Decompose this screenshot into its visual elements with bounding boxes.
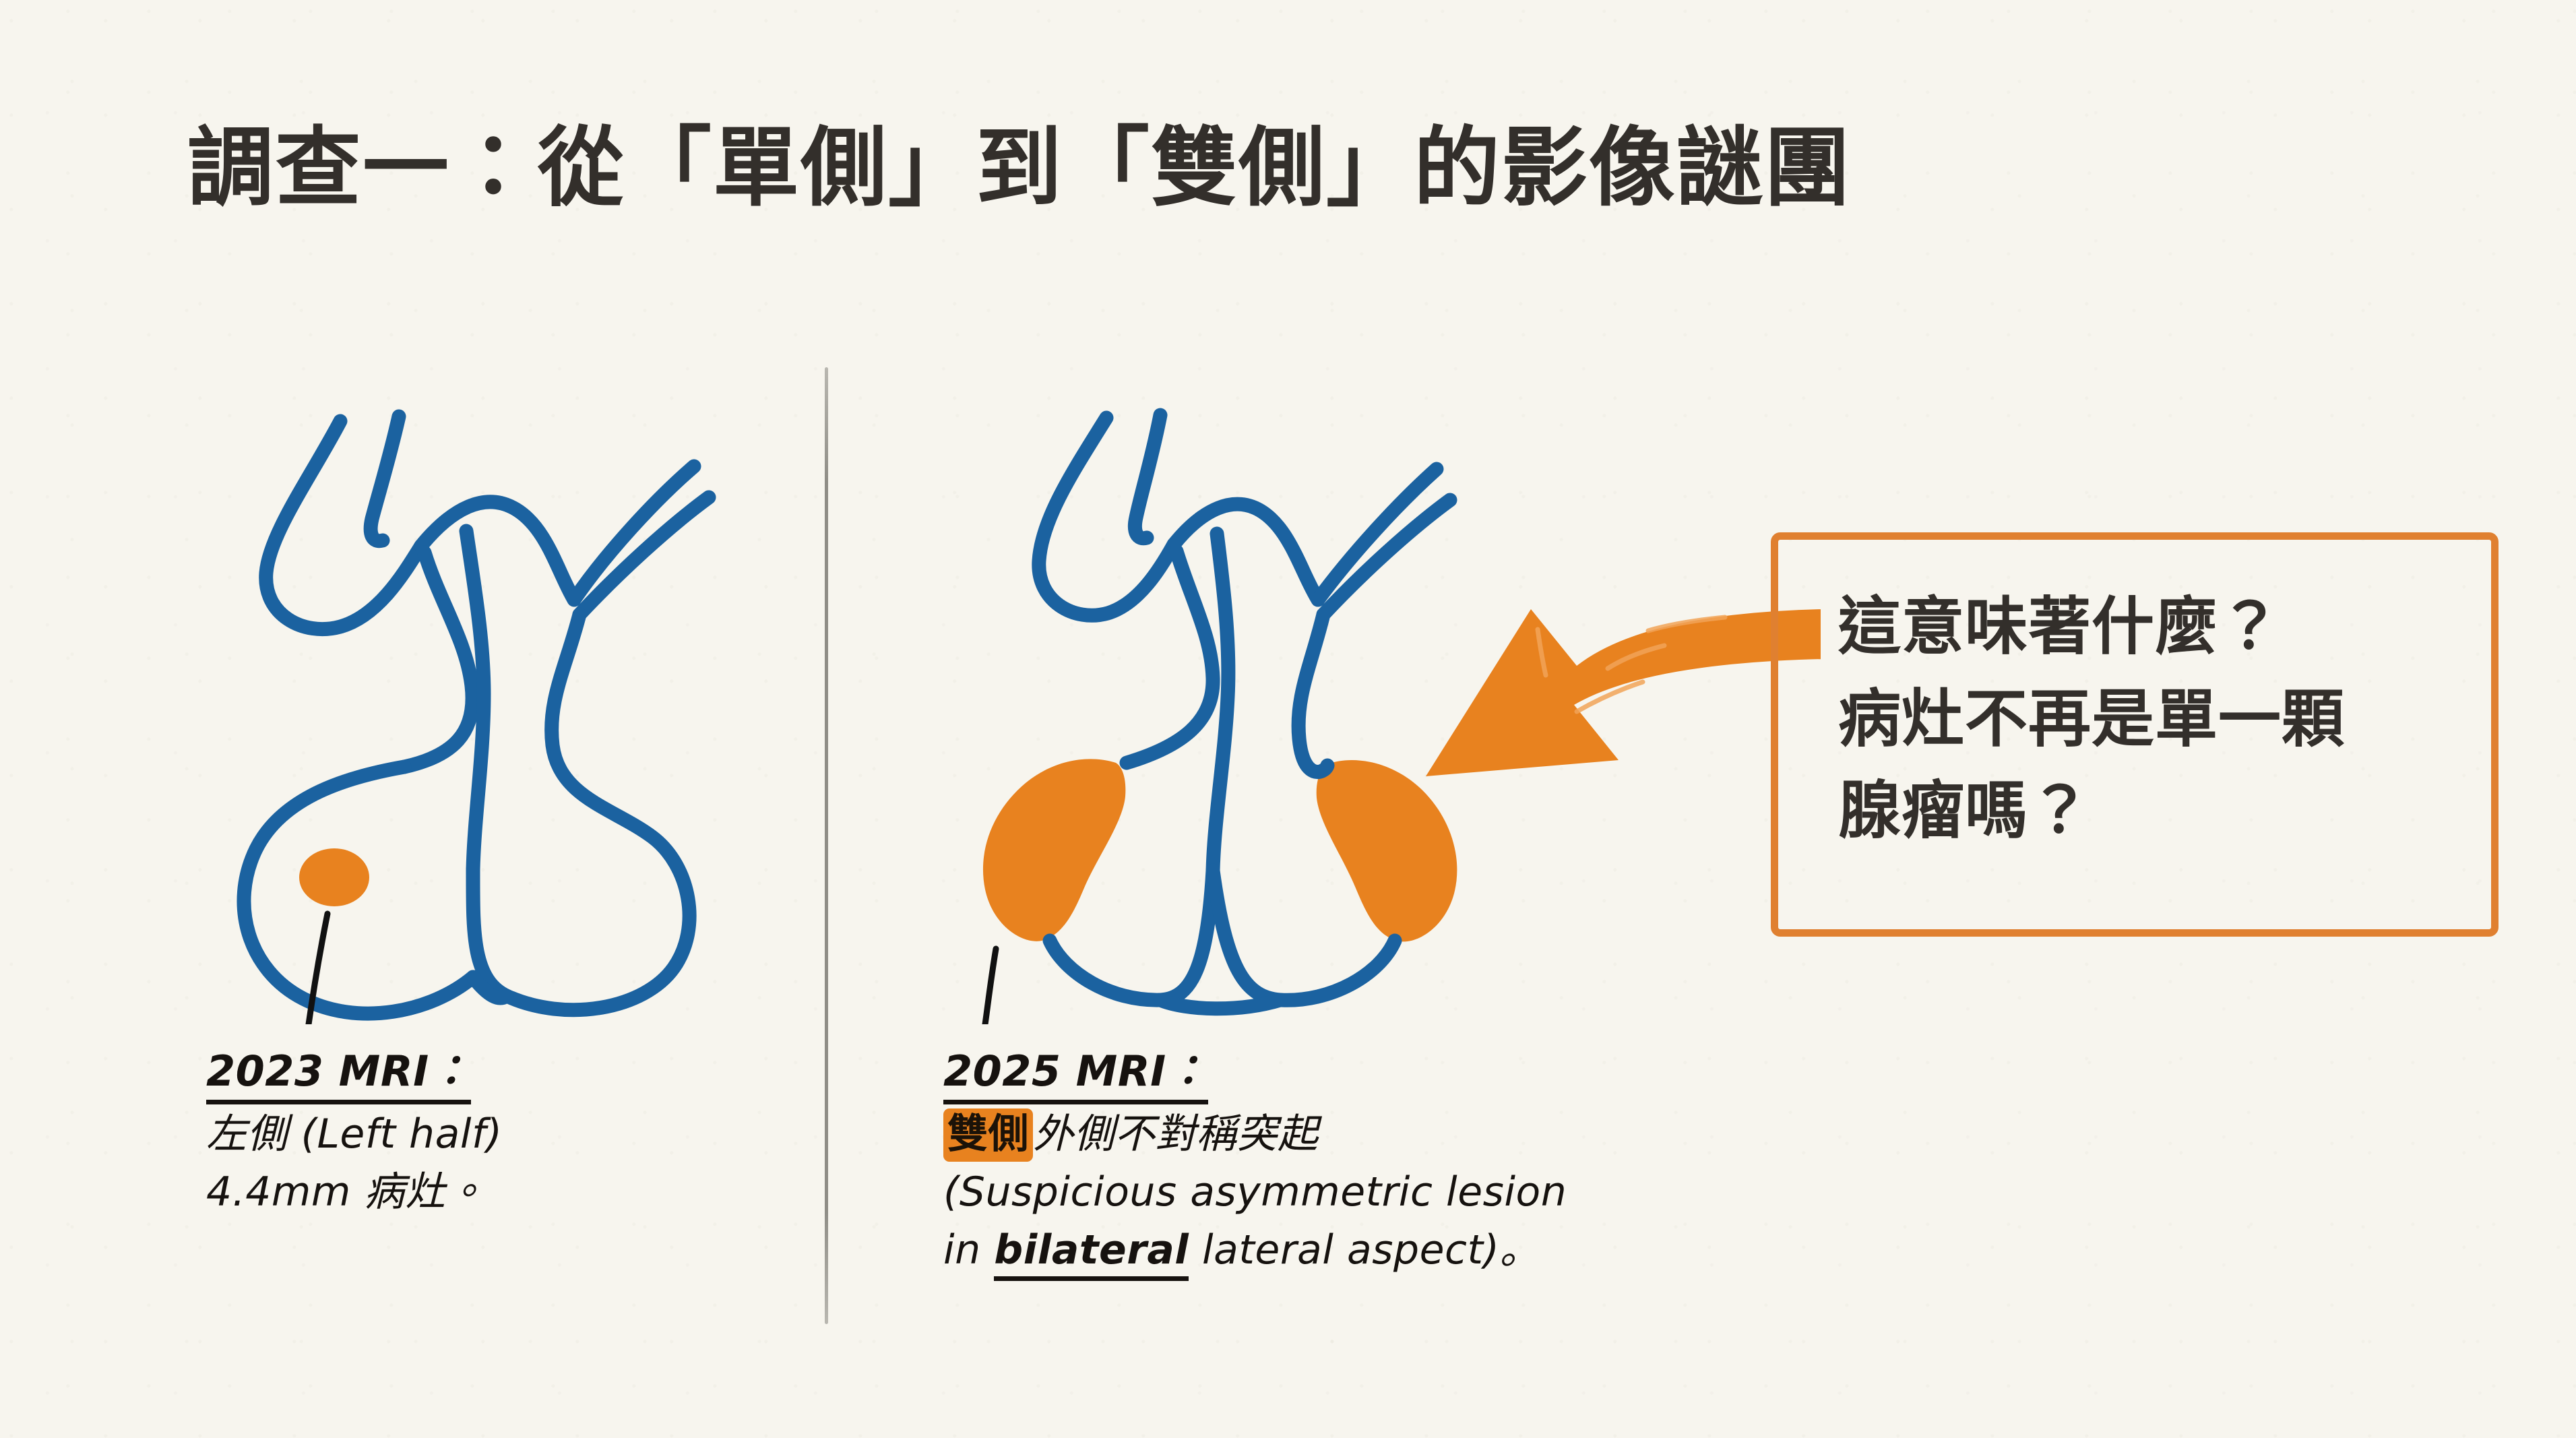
bilateral-term: bilateral — [994, 1226, 1189, 1281]
curved-arrow-left-icon — [1408, 580, 1826, 802]
lesion-marker-dot — [299, 848, 369, 906]
caption-2025: 2025 MRI： 雙側外側不對稱突起 (Suspicious asymmetr… — [943, 1046, 1567, 1280]
bilateral-highlight: 雙側 — [943, 1108, 1033, 1162]
panel-divider — [825, 367, 828, 1324]
pointer-line-2025 — [985, 949, 996, 1024]
slide-root: 調查一：從「單側」到「雙側」的影像謎團 — [0, 0, 2576, 1438]
panel-2023 — [202, 350, 755, 1024]
caption-2025-line3-a: in — [943, 1226, 994, 1274]
caption-2023-line1: 左側 (Left half) — [206, 1105, 503, 1163]
lesion-bulge-left — [983, 759, 1125, 941]
callout-line-2: 病灶不再是單一顆 — [1838, 673, 2499, 765]
caption-2025-line2: (Suspicious asymmetric lesion — [943, 1163, 1567, 1221]
caption-2025-line1: 雙側外側不對稱突起 — [943, 1105, 1567, 1163]
callout-line-1: 這意味著什麼？ — [1838, 581, 2499, 673]
caption-2025-line1-rest: 外側不對稱突起 — [1033, 1111, 1319, 1158]
caption-2023-line2: 4.4mm 病灶。 — [206, 1163, 503, 1221]
caption-2025-line3: in bilateral lateral aspect)。 — [943, 1221, 1567, 1279]
page-title: 調查一：從「單側」到「雙側」的影像謎團 — [187, 120, 1852, 216]
caption-2025-line3-b: lateral aspect)。 — [1189, 1226, 1540, 1274]
caption-2025-heading: 2025 MRI： — [943, 1046, 1567, 1097]
caption-2023: 2023 MRI： 左側 (Left half) 4.4mm 病灶。 — [206, 1046, 503, 1221]
callout-line-3: 腺瘤嗎？ — [1838, 765, 2499, 857]
caption-2023-heading: 2023 MRI： — [206, 1046, 503, 1097]
pituitary-diagram-2023 — [202, 350, 755, 1024]
callout-text: 這意味著什麼？ 病灶不再是單一顆 腺瘤嗎？ — [1838, 581, 2499, 857]
